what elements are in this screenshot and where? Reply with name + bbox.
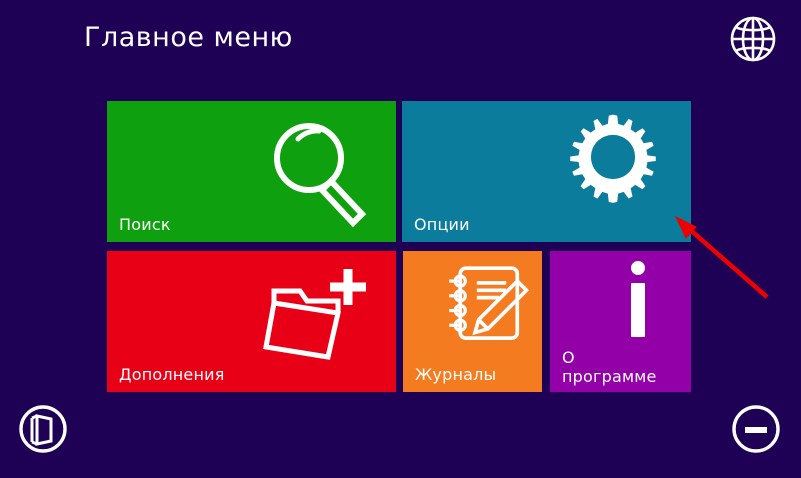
tile-addons[interactable]: Дополнения [107, 251, 396, 392]
tile-options[interactable]: Опции [402, 101, 691, 242]
minimize-icon[interactable] [727, 400, 785, 458]
globe-icon[interactable] [724, 10, 782, 68]
gear-icon [567, 111, 659, 207]
tile-options-label: Опции [414, 215, 470, 234]
tile-search[interactable]: Поиск [107, 101, 396, 242]
magnifier-icon [262, 113, 372, 232]
tile-about[interactable]: О программе [550, 251, 691, 392]
main-menu-screen: Главное меню Поиск [0, 0, 801, 478]
tile-journals[interactable]: Журналы [403, 251, 542, 392]
tile-about-label: О программе [562, 348, 657, 386]
tile-journals-label: Журналы [415, 365, 496, 384]
exit-door-icon[interactable] [14, 400, 72, 458]
tile-search-label: Поиск [119, 215, 171, 234]
notebook-pencil-icon [440, 259, 532, 355]
page-title: Главное меню [84, 22, 293, 53]
tile-addons-label: Дополнения [119, 365, 225, 384]
folder-plus-icon [262, 261, 372, 375]
info-i-icon [623, 259, 653, 343]
